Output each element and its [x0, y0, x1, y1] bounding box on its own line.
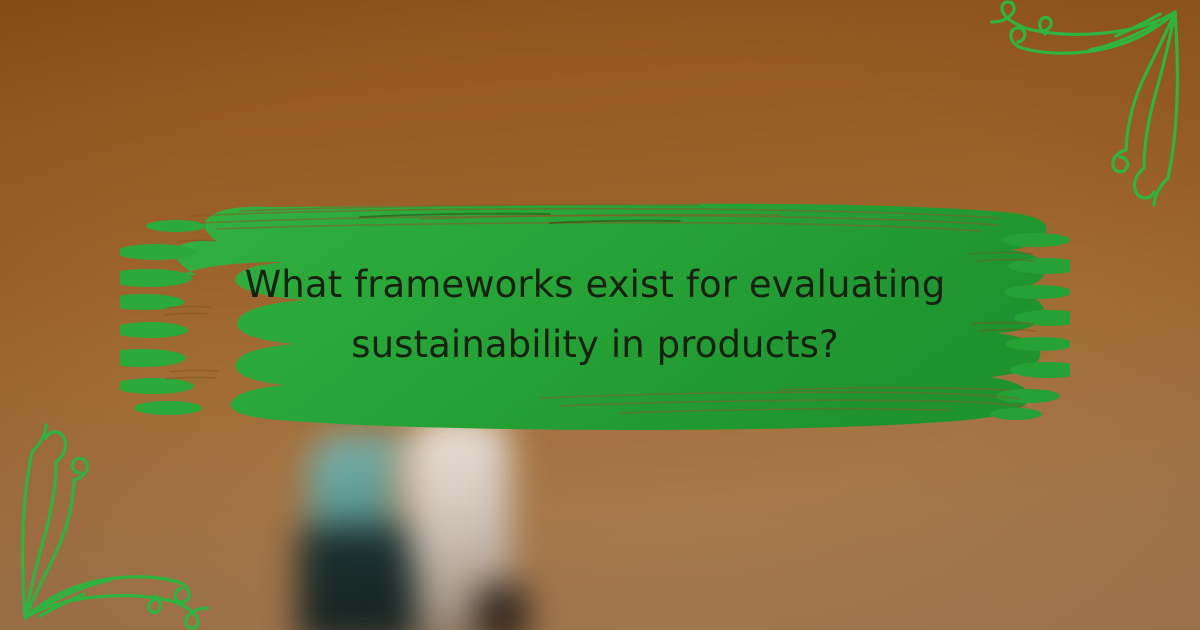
social-card-canvas: What frameworks exist for evaluating sus…: [0, 0, 1200, 630]
ornament-top-right-icon: [970, 0, 1200, 210]
headline-line-1: What frameworks exist for evaluating: [245, 255, 946, 315]
ornament-bottom-left-icon: [0, 420, 230, 630]
headline-line-2: sustainability in products?: [351, 315, 839, 375]
headline-banner: What frameworks exist for evaluating sus…: [120, 182, 1070, 448]
headline-text: What frameworks exist for evaluating sus…: [120, 182, 1070, 448]
